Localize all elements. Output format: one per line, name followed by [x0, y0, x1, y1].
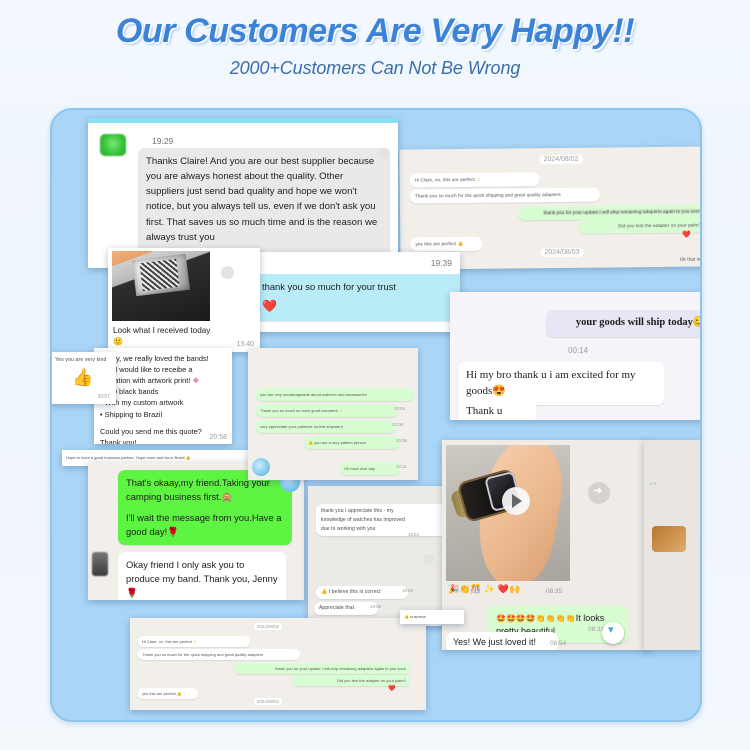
photo-caption-emoji: 🙂 [113, 337, 123, 346]
camping-green-bubble: That's okaay,my friend.Taking your campi… [118, 470, 292, 545]
improved-msg-block: thank you I appreciate this - my knowled… [316, 504, 454, 536]
quote-time: 20:58 [209, 434, 227, 441]
rose-emoji-2: 🌹 [126, 587, 138, 598]
knowledge-sticker-icon [252, 458, 270, 476]
card-right-thumb-strip[interactable]: ✓✓ [644, 440, 700, 650]
knowledge-time-4: 20:06 [396, 438, 407, 443]
main-testimonial-time: 19:29 [152, 136, 173, 146]
thumbs-up-icon: 👍 [72, 368, 93, 388]
card-very-kind[interactable]: Yes you are very kind 👍 20:07 [50, 352, 116, 404]
knowledge-msg-4: 👍 you are a very patient person [304, 436, 400, 449]
card-camping-business[interactable]: That's okaay,my friend.Taking your campi… [88, 462, 304, 600]
heart-reaction-icon: ❤️ [262, 298, 458, 315]
trust-reply-bubble: thank you so much for your trust ❤️ [254, 274, 460, 321]
adapters-reaction: ❤️ [682, 231, 691, 239]
adapters2-date-2: 2024/08/03 [254, 698, 282, 705]
thumb-strip-label: ✓✓ [650, 480, 657, 487]
camping-avatar-icon [92, 552, 108, 576]
card-knowledge-chat[interactable]: you are very knowledgeable about watches… [248, 348, 418, 480]
adapters2-msg-1: Hi Clare, no, this are perfect ☺ [138, 636, 250, 647]
very-kind-text: Yes you are very kind [55, 356, 107, 365]
knowledge-msg-5: Ok have nice day [340, 462, 400, 475]
card-photo-received[interactable]: Look what I received today 🙂 13:40 [108, 248, 260, 352]
watch-white-time: 08:54 [550, 640, 566, 647]
knowledge-time-5: 20:11 [396, 464, 407, 469]
forward-icon[interactable] [588, 482, 610, 504]
adapters2-msg-2: Thank you so much for the quick shipping… [138, 649, 300, 660]
adapters2-msg-3: thank you for your update I will ship re… [234, 663, 410, 674]
thumb-photo-icon [652, 526, 686, 552]
received-bands-photo [112, 251, 210, 321]
very-kind-time: 20:07 [97, 394, 110, 400]
knowledge-time-2: 20:06 [394, 406, 405, 411]
improved-msg-5: Appreciate that [314, 602, 378, 615]
camping-white-bubble: Okay friend I only ask you to produce my… [118, 552, 286, 600]
improved-time-4: 19:03 [402, 588, 413, 593]
watch-photo [446, 445, 570, 581]
ship-reply-bubble-2: Thank u [458, 398, 536, 420]
card-main-testimonial[interactable]: 19:29 Thanks Claire! And you are our bes… [88, 118, 398, 268]
adapters2-reaction: ❤️ [388, 685, 395, 692]
adapters2-date-1: 2024/08/02 [254, 623, 282, 630]
header: Our Customers Are Very Happy!! 2000+Cust… [0, 0, 750, 79]
reaction-placeholder-icon [379, 148, 390, 159]
ship-divider-time: 00:14 [568, 346, 588, 355]
knowledge-msg-2: Thank you so much on such good comment ☺ [256, 404, 398, 417]
watch-white-bubble: Yes! We just loved it! [446, 632, 558, 650]
adapters-msg-2: Thank you so much for the quick shipping… [410, 188, 600, 204]
photo-caption: Look what I received today [113, 326, 210, 335]
improved-time-5: 19:05 [370, 604, 381, 609]
adapters-date-1: 2024/08/02 [539, 155, 582, 164]
improved-time-1: 18:54 [408, 532, 419, 537]
scroll-down-icon[interactable] [602, 622, 624, 644]
trust-reply-time: 19:39 [431, 258, 452, 268]
page-subtitle: 2000+Customers Can Not Be Wrong [0, 58, 750, 79]
page-title: Our Customers Are Very Happy!! [0, 0, 750, 51]
photo-status-icon [221, 266, 234, 279]
play-button-icon[interactable] [502, 487, 530, 515]
knowledge-msg-1: you are very knowledgeable about watches… [256, 388, 414, 401]
footer-strip-text: Hope to have a good business partner. Ho… [66, 454, 191, 461]
rose-emoji: 🌹 [167, 526, 179, 537]
star-emojis: 🤩🤩🤩🤩👏👏👏👏 [496, 614, 576, 623]
adapters2-msg-5: yes this are perfect 👍 [138, 688, 198, 699]
adapters-msg-5: yes this are perfect 👍 [410, 237, 482, 252]
business-chip-text: 👍 business [404, 613, 426, 620]
knowledge-msg-3: very appreciate your patience on this sh… [256, 420, 396, 433]
card-business-chip[interactable]: 👍 business [400, 610, 464, 624]
page-background: Our Customers Are Very Happy!! 2000+Cust… [0, 0, 750, 750]
watch-reactions: 🎉👏🎊 ✨ ❤️🙌 [448, 584, 520, 595]
adapters-msg-6: Ok that is great [680, 255, 702, 263]
heart-eyes-emoji: 😍 [492, 385, 506, 397]
knowledge-time-3: 20:06 [392, 422, 403, 427]
ship-today-bubble: your goods will ship today😊 [546, 310, 702, 337]
improved-msg-4: 👍 I believe this is correct [316, 586, 408, 599]
testimonial-collage-panel: 2024/08/02 Hi Clare, no, this are perfec… [50, 108, 702, 722]
card-trust-reply[interactable]: 19:39 thank you so much for your trust ❤… [242, 252, 460, 332]
improved-status-icon [423, 554, 434, 565]
wink-emoji: 😊 [693, 317, 702, 328]
adapters-msg-1: Hi Clare, no, this are perfect ☺ [410, 172, 540, 187]
contact-avatar-icon [100, 134, 126, 156]
monkey-emoji: 🙊 [221, 491, 233, 502]
card-ship-today[interactable]: ☐✓ your goods will ship today😊 ☐✓ 00:14 … [450, 292, 702, 420]
adapters-date-2: 2024/08/03 [540, 248, 583, 257]
card-adapters-chat-bottom[interactable]: 2024/08/02 Hi Clare, no, this are perfec… [130, 618, 426, 710]
chat-topbar [88, 118, 398, 123]
card-watch-video[interactable]: 🎉👏🎊 ✨ ❤️🙌 08:35 🤩🤩🤩🤩👏👏👏👏It looks pretty … [442, 440, 650, 650]
quote-body: Jenny, we really loved the bands! And I … [100, 353, 209, 444]
photo-time: 13:40 [236, 341, 254, 348]
watch-photo-time: 08:35 [546, 588, 562, 595]
